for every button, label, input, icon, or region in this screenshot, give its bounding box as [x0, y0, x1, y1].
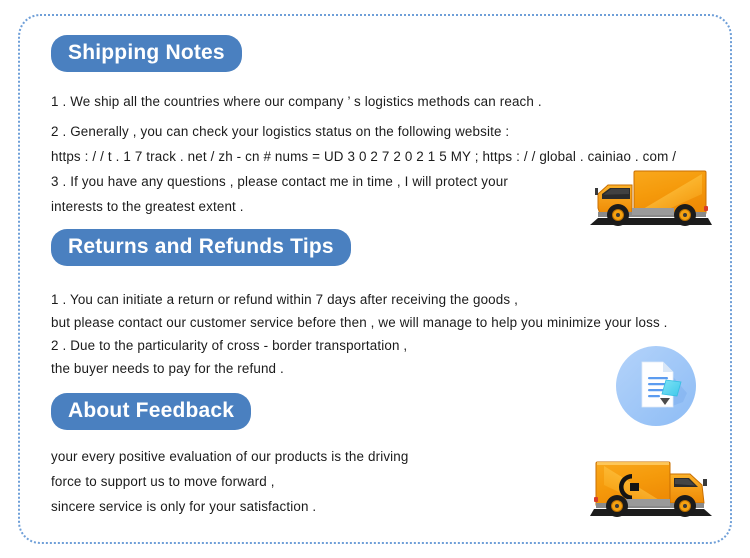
feedback-line-3: sincere service is only for your satisfa… [51, 494, 316, 519]
returns-line-2: 2 . Due to the particularity of cross - … [51, 333, 407, 358]
shipping-line-2: 2 . Generally , you can check your logis… [51, 119, 509, 144]
badge-label: Returns and Refunds Tips [51, 229, 351, 266]
section-header-about-feedback: About Feedback [51, 393, 251, 430]
refund-document-icon [615, 345, 697, 427]
feedback-line-1: your every positive evaluation of our pr… [51, 444, 409, 469]
returns-line-1: 1 . You can initiate a return or refund … [51, 287, 518, 312]
badge-label: About Feedback [51, 393, 251, 430]
notice-panel: Shipping Notes 1 . We ship all the count… [18, 14, 732, 544]
feedback-line-2: force to support us to move forward , [51, 469, 275, 494]
shipping-line-3: 3 . If you have any questions , please c… [51, 169, 508, 194]
delivery-truck-icon [586, 168, 716, 232]
page-root: Shipping Notes 1 . We ship all the count… [0, 0, 750, 558]
shipping-line-1: 1 . We ship all the countries where our … [51, 89, 542, 114]
badge-label: Shipping Notes [51, 35, 242, 72]
section-header-returns-and-refunds-tips: Returns and Refunds Tips [51, 229, 351, 266]
shipping-line-3-cont: interests to the greatest extent . [51, 194, 244, 219]
cargo-truck-icon [586, 457, 716, 523]
returns-line-2-cont: the buyer needs to pay for the refund . [51, 356, 284, 381]
returns-line-1-cont: but please contact our customer service … [51, 310, 668, 335]
section-header-shipping-notes: Shipping Notes [51, 35, 242, 72]
shipping-tracking-urls: https : / / t . 1 7 track . net / zh - c… [51, 144, 676, 169]
